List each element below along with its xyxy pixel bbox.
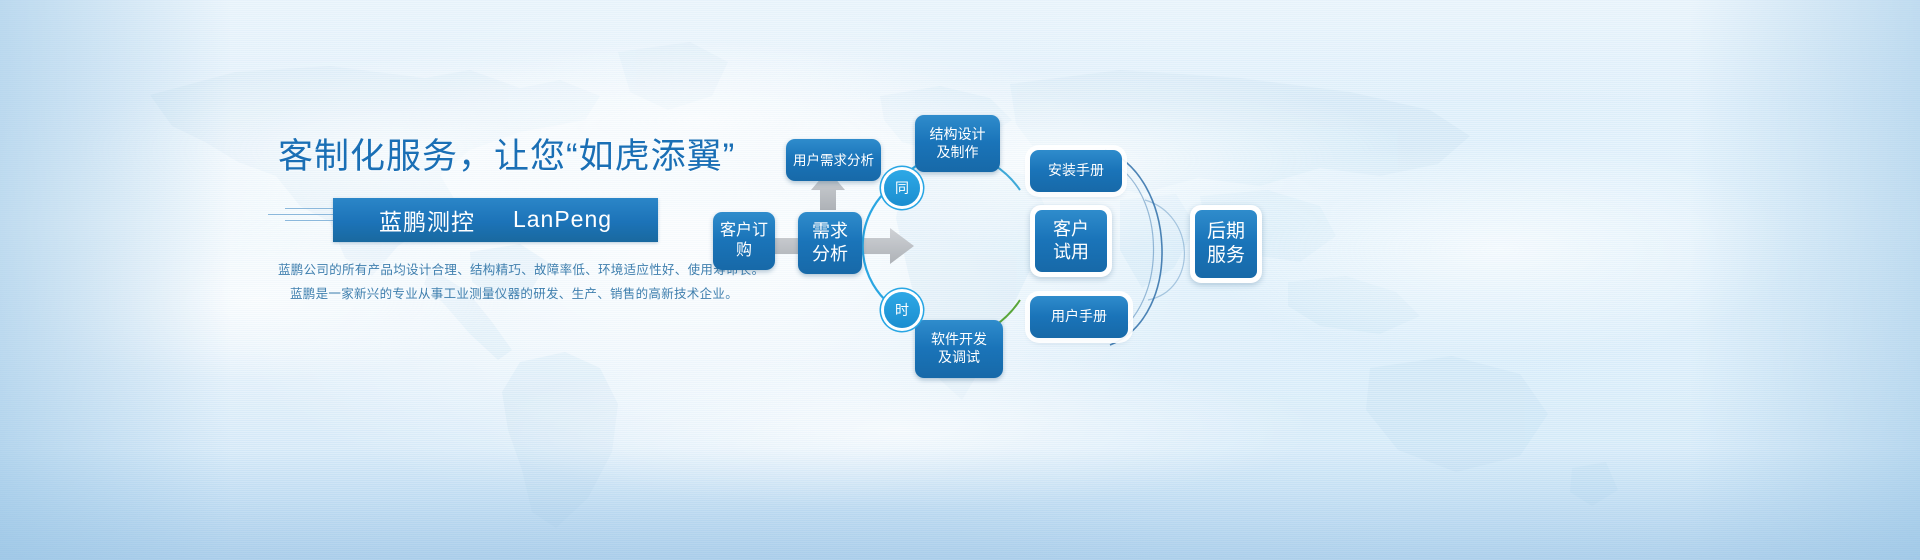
flow-node-customer-order[interactable]: 客户订购 [713, 212, 775, 270]
process-flow-diagram: 用户需求分析 客户订购 需求 分析 结构设计 及制作 软件开发 及调试 安装手册… [0, 0, 1920, 560]
banner-root: 客制化服务，让您“如虎添翼” 蓝鹏测控 LanPeng 蓝鹏公司的所有产品均设计… [0, 0, 1920, 560]
flow-node-after-sales-service[interactable]: 后期 服务 [1190, 205, 1262, 283]
flow-badge-shi[interactable]: 时 [884, 292, 920, 328]
flow-node-customer-trial[interactable]: 客户 试用 [1030, 205, 1112, 277]
flow-connectors [0, 0, 1920, 560]
flow-node-software-development[interactable]: 软件开发 及调试 [915, 320, 1003, 378]
flow-node-installation-manual[interactable]: 安装手册 [1030, 150, 1122, 192]
flow-node-structure-design[interactable]: 结构设计 及制作 [915, 115, 1000, 172]
flow-badge-tong[interactable]: 同 [884, 170, 920, 206]
flow-node-user-requirement-analysis[interactable]: 用户需求分析 [786, 139, 881, 181]
flow-node-requirement-analysis[interactable]: 需求 分析 [798, 212, 862, 274]
flow-node-user-manual[interactable]: 用户手册 [1030, 296, 1128, 338]
